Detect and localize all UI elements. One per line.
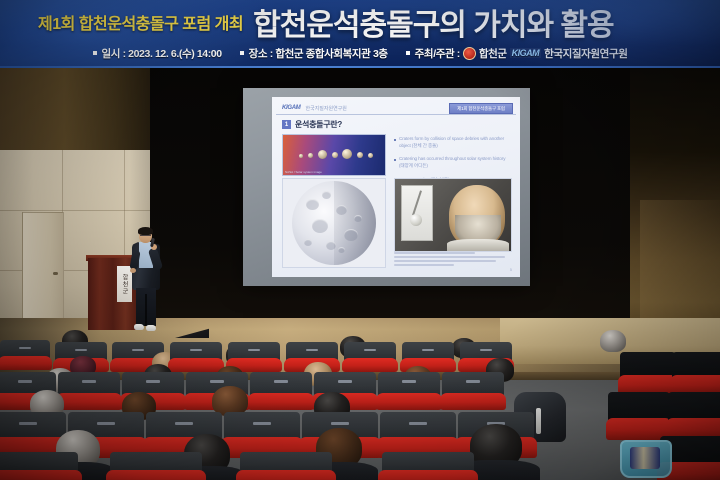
seat-empty bbox=[668, 392, 720, 440]
kigam-logo-icon: KIGAM bbox=[510, 48, 542, 58]
seat bbox=[0, 452, 78, 480]
slide-page-number: 5 bbox=[510, 267, 512, 272]
banner-info-date: 일시 : 2023. 12. 6.(수) 14:00 bbox=[93, 46, 222, 61]
slide-kigam-logo-icon: KIGAM bbox=[282, 105, 301, 111]
bullet-dot-icon bbox=[394, 159, 396, 161]
slide-bullet-item: Cratering has occurred throughout solar … bbox=[394, 156, 510, 169]
seat bbox=[344, 342, 396, 372]
storage-basket bbox=[620, 440, 672, 478]
slide-section-badge: 1 bbox=[282, 120, 291, 129]
door-knob-icon bbox=[53, 272, 58, 275]
banner-subtitle: 제1회 합천운석충돌구 포럼 개최 bbox=[38, 10, 243, 34]
banner-info-host: 주최/주관 : 합천군 KIGAM 한국지질자원연구원 bbox=[406, 46, 628, 61]
slide-caption-lines bbox=[394, 252, 510, 268]
banner-title-row: 제1회 합천운석충돌구 포럼 개최 합천운석충돌구의 가치와 활용 bbox=[0, 2, 720, 42]
bullet-square-icon bbox=[240, 51, 244, 55]
presenter-left-hand bbox=[130, 268, 136, 273]
seat-empty bbox=[672, 352, 720, 394]
seat bbox=[240, 452, 332, 480]
solar-system-image: NASA / Solar system image bbox=[282, 134, 386, 176]
bullet-dot-icon bbox=[394, 139, 396, 141]
basket-contents bbox=[630, 447, 660, 469]
galileo-collar bbox=[447, 239, 509, 251]
event-banner: 제1회 합천운석충돌구 포럼 개최 합천운석충돌구의 가치와 활용 일시 : 2… bbox=[0, 0, 720, 68]
seat bbox=[378, 372, 440, 410]
seat bbox=[442, 372, 504, 410]
slide-content: KIGAM 한국지질자원연구원 제1회 합천운석충돌구 포럼 1 운석충돌구란?… bbox=[276, 100, 516, 274]
glasses-icon bbox=[140, 235, 151, 238]
bullet-square-icon bbox=[406, 51, 410, 55]
seat bbox=[382, 452, 474, 480]
banner-info-place: 장소 : 합천군 종합사회복지관 3층 bbox=[240, 46, 388, 61]
hapcheon-emblem-icon bbox=[463, 47, 476, 60]
galileo-portrait-image bbox=[394, 178, 512, 252]
banner-bottom-line bbox=[0, 66, 720, 68]
auditorium-photo: 제1회 합천운석충돌구 포럼 개최 합천운석충돌구의 가치와 활용 일시 : 2… bbox=[0, 0, 720, 480]
telescope-diagram bbox=[401, 185, 433, 241]
seat-empty bbox=[608, 392, 670, 440]
moon-surface-image bbox=[282, 178, 386, 268]
seat bbox=[250, 372, 312, 410]
backpack-strap bbox=[536, 408, 541, 434]
banner-info-row: 일시 : 2023. 12. 6.(수) 14:00 장소 : 합천군 종합사회… bbox=[0, 42, 720, 64]
moon-disc bbox=[292, 181, 376, 265]
slide-header-tag: 제1회 합천운석충돌구 포럼 bbox=[449, 103, 513, 114]
presenter-shoe-left bbox=[134, 324, 144, 330]
seat bbox=[0, 340, 50, 370]
seat-empty bbox=[620, 352, 676, 394]
slide-bullet-item: Craters form by collision of space debri… bbox=[394, 136, 510, 149]
audience-head bbox=[600, 330, 626, 352]
slide-header: KIGAM 한국지질자원연구원 제1회 합천운석충돌구 포럼 bbox=[276, 102, 516, 115]
presenter-leg-split bbox=[145, 294, 147, 326]
slide-title: 운석충돌구란? bbox=[295, 119, 342, 130]
seat bbox=[110, 452, 202, 480]
seat bbox=[170, 342, 222, 372]
seat bbox=[58, 372, 120, 410]
solar-image-caption: NASA / Solar system image bbox=[285, 170, 322, 174]
presenter bbox=[131, 228, 161, 332]
telescope-lens bbox=[410, 214, 422, 226]
slide-kigam-name: 한국지질자원연구원 bbox=[306, 105, 347, 112]
presenter-shoe-right bbox=[146, 325, 156, 331]
banner-main-title: 합천운석충돌구의 가치와 활용 bbox=[253, 0, 613, 44]
bullet-square-icon bbox=[93, 51, 97, 55]
telescope-rod bbox=[412, 190, 422, 215]
